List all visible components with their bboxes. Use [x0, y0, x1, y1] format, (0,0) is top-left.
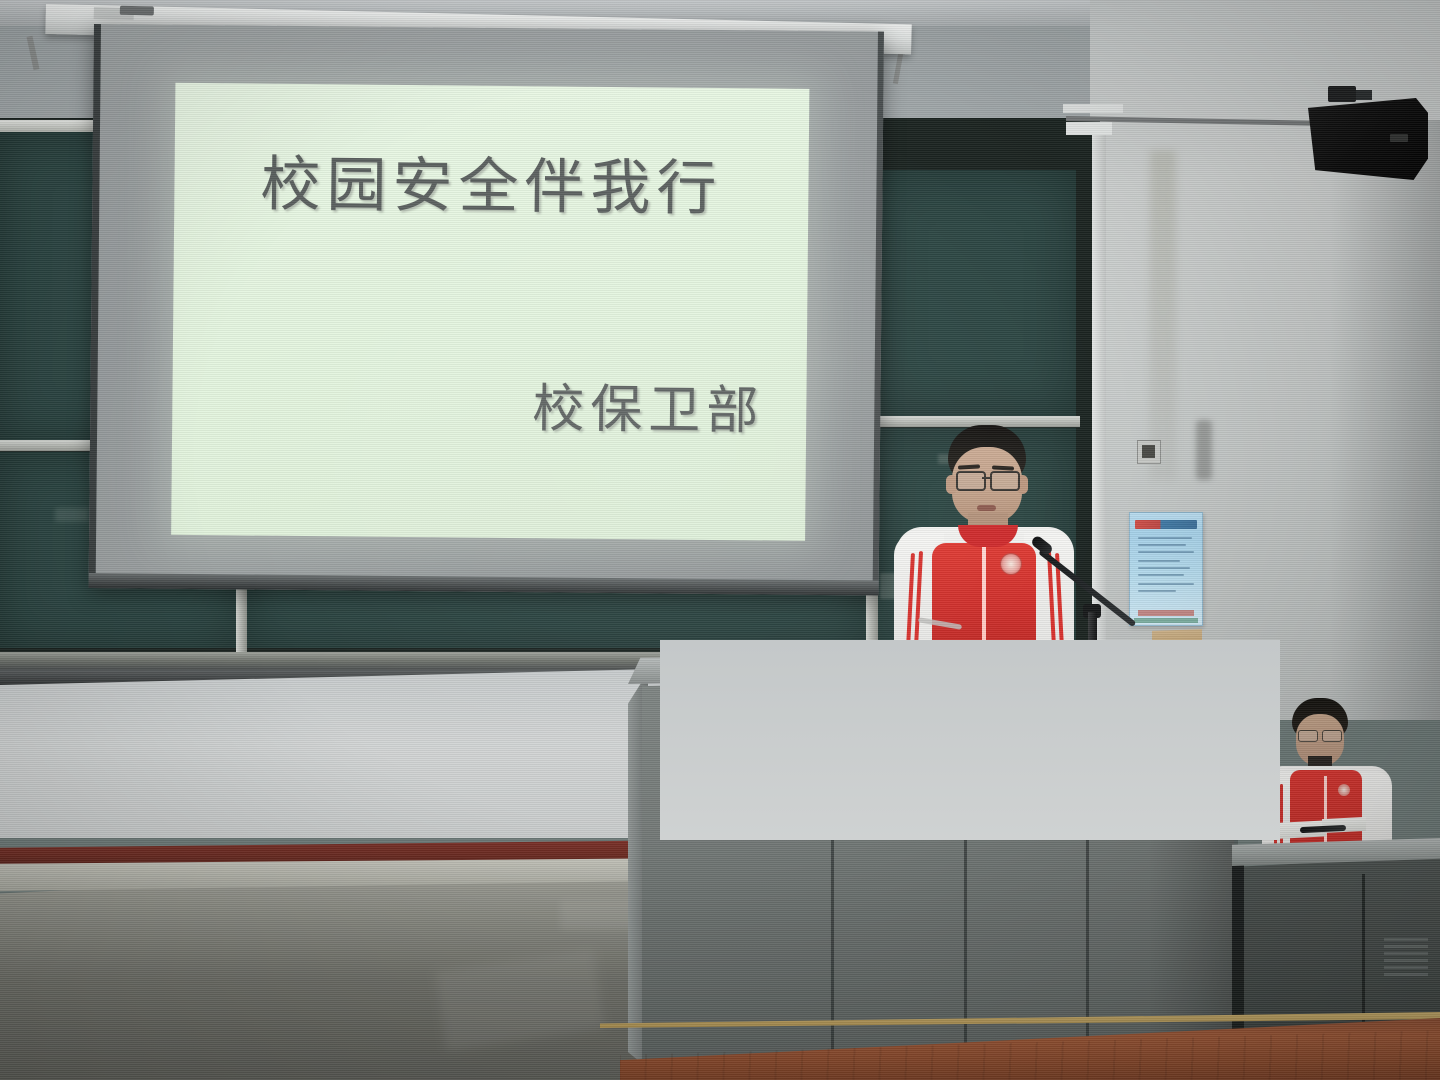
- roller-motor: [120, 6, 154, 16]
- school-crest-badge: [1000, 553, 1022, 575]
- desk-shadow-void: [1232, 864, 1244, 1032]
- slide-subtitle: 校保卫部: [532, 366, 765, 443]
- eyeglasses-icon: [1298, 730, 1318, 742]
- wall-frame-top: [1066, 122, 1112, 135]
- wall-speaker-icon: [1308, 98, 1428, 180]
- wall-mark: [1196, 420, 1212, 480]
- slide-title: 校园安全伴我行: [174, 135, 809, 228]
- desk-panel-seam: [1362, 874, 1365, 1026]
- wall-outlet[interactable]: [1137, 440, 1161, 464]
- seated-student: [1262, 698, 1392, 838]
- lower-wall: [0, 668, 700, 838]
- blue-notice-poster: [1129, 512, 1203, 626]
- side-desk: [1232, 838, 1440, 1038]
- eyeglasses-icon: [1322, 730, 1342, 742]
- poster-footer-band2: [1134, 618, 1198, 623]
- school-crest-badge: [1338, 784, 1350, 796]
- eyeglasses-icon: [990, 471, 1020, 491]
- poster-header: [1135, 520, 1197, 529]
- eyeglasses-bridge: [982, 477, 990, 479]
- desk-vent-grille: [1384, 938, 1428, 988]
- presenter-mouth: [977, 505, 996, 511]
- eyeglasses-icon: [956, 471, 986, 491]
- speaker-brand-plate: [1390, 134, 1408, 142]
- projection-screen[interactable]: 校园安全伴我行 校保卫部: [89, 24, 884, 596]
- projected-slide: 校园安全伴我行 校保卫部: [171, 83, 809, 541]
- wall-stain: [1150, 150, 1176, 480]
- lower-wall-right: [660, 640, 1280, 840]
- right-wall-shadow: [1330, 120, 1440, 720]
- blackboard-panel: [876, 170, 1076, 416]
- student-sleeve-right: [1358, 772, 1392, 844]
- speaker-mount-arm: [1356, 90, 1372, 100]
- conduit-cap: [1063, 104, 1123, 113]
- poster-footer-band: [1138, 610, 1194, 616]
- speaker-mount-bracket: [1328, 86, 1356, 102]
- chalk-smudge: [55, 508, 89, 522]
- classroom-photo-scene: 校园安全伴我行 校保卫部: [0, 0, 1440, 1080]
